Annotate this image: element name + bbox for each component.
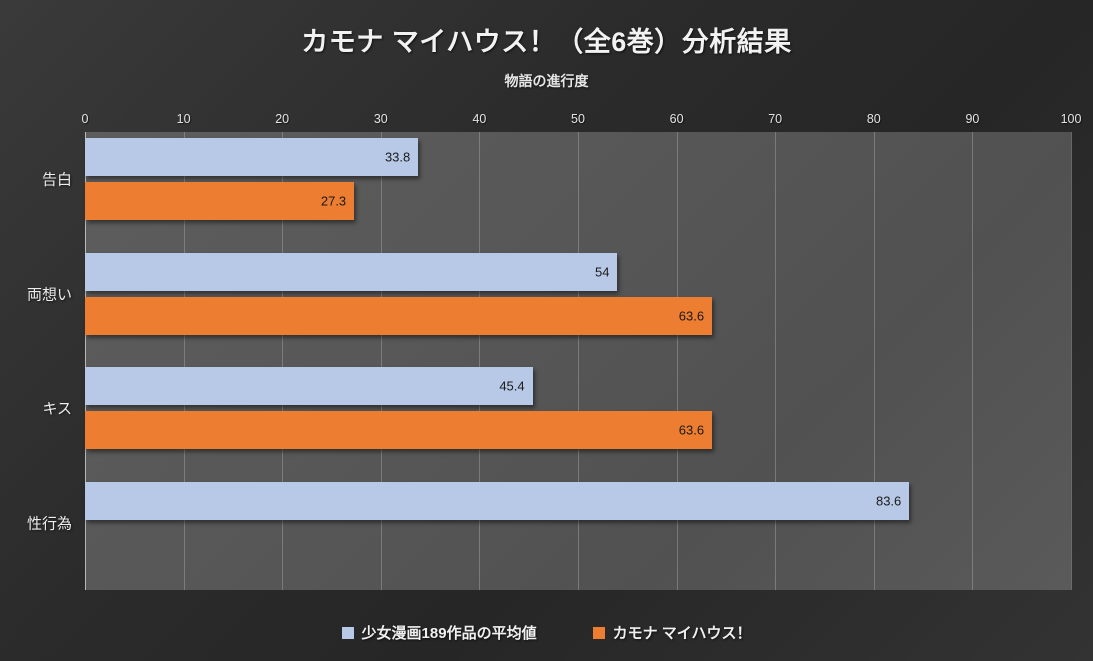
x-axis-tick-labels: 0102030405060708090100 — [0, 112, 1093, 130]
y-category-label-性行為: 性行為 — [27, 512, 72, 533]
bar-value-label: 54 — [595, 264, 609, 279]
y-category-label-キス: キス — [42, 398, 72, 419]
legend-swatch-icon — [342, 627, 354, 639]
bar-告白-少女漫画189作品の平均値[interactable]: 33.8 — [85, 138, 418, 176]
gridline-50 — [578, 132, 579, 590]
legend-item-少女漫画189作品の平均値[interactable]: 少女漫画189作品の平均値 — [342, 622, 537, 643]
x-tick-label-0: 0 — [82, 112, 89, 126]
gridline-80 — [874, 132, 875, 590]
legend-label: カモナ マイハウス！ — [613, 622, 752, 643]
x-tick-label-20: 20 — [275, 112, 289, 126]
legend-swatch-icon — [593, 627, 605, 639]
y-category-label-告白: 告白 — [42, 169, 72, 190]
x-tick-label-10: 10 — [177, 112, 191, 126]
gridline-30 — [381, 132, 382, 590]
x-tick-label-80: 80 — [867, 112, 881, 126]
x-tick-label-30: 30 — [374, 112, 388, 126]
bar-両想い-少女漫画189作品の平均値[interactable]: 54 — [85, 253, 617, 291]
bar-キス-カモナ マイハウス！[interactable]: 63.6 — [85, 411, 712, 449]
gridline-60 — [677, 132, 678, 590]
chart-title: カモナ マイハウス！（全6巻）分析結果 — [0, 20, 1093, 59]
bar-告白-カモナ マイハウス！[interactable]: 27.3 — [85, 182, 354, 220]
bar-value-label: 63.6 — [679, 423, 704, 438]
chart-container: カモナ マイハウス！（全6巻）分析結果 物語の進行度 0102030405060… — [0, 0, 1093, 661]
y-category-label-両想い: 両想い — [27, 283, 72, 304]
gridline-90 — [972, 132, 973, 590]
chart-subtitle: 物語の進行度 — [0, 71, 1093, 91]
gridline-40 — [479, 132, 480, 590]
y-axis-category-labels: 告白両想いキス性行為 — [0, 132, 82, 590]
bar-value-label: 63.6 — [679, 308, 704, 323]
x-tick-label-60: 60 — [670, 112, 684, 126]
plot-area: 33.827.35463.645.463.683.6 — [85, 132, 1071, 590]
x-tick-label-70: 70 — [768, 112, 782, 126]
bar-両想い-カモナ マイハウス！[interactable]: 63.6 — [85, 297, 712, 335]
legend-item-カモナ マイハウス！[interactable]: カモナ マイハウス！ — [593, 622, 752, 643]
bar-性行為-少女漫画189作品の平均値[interactable]: 83.6 — [85, 482, 909, 520]
bar-キス-少女漫画189作品の平均値[interactable]: 45.4 — [85, 367, 533, 405]
bar-value-label: 27.3 — [321, 194, 346, 209]
x-tick-label-40: 40 — [472, 112, 486, 126]
gridline-100 — [1071, 132, 1072, 590]
x-tick-label-50: 50 — [571, 112, 585, 126]
legend-label: 少女漫画189作品の平均値 — [362, 622, 537, 643]
gridline-70 — [775, 132, 776, 590]
x-tick-label-90: 90 — [965, 112, 979, 126]
bar-value-label: 83.6 — [876, 493, 901, 508]
bar-value-label: 33.8 — [385, 150, 410, 165]
x-tick-label-100: 100 — [1061, 112, 1082, 126]
bar-value-label: 45.4 — [499, 379, 524, 394]
chart-legend: 少女漫画189作品の平均値カモナ マイハウス！ — [0, 622, 1093, 643]
